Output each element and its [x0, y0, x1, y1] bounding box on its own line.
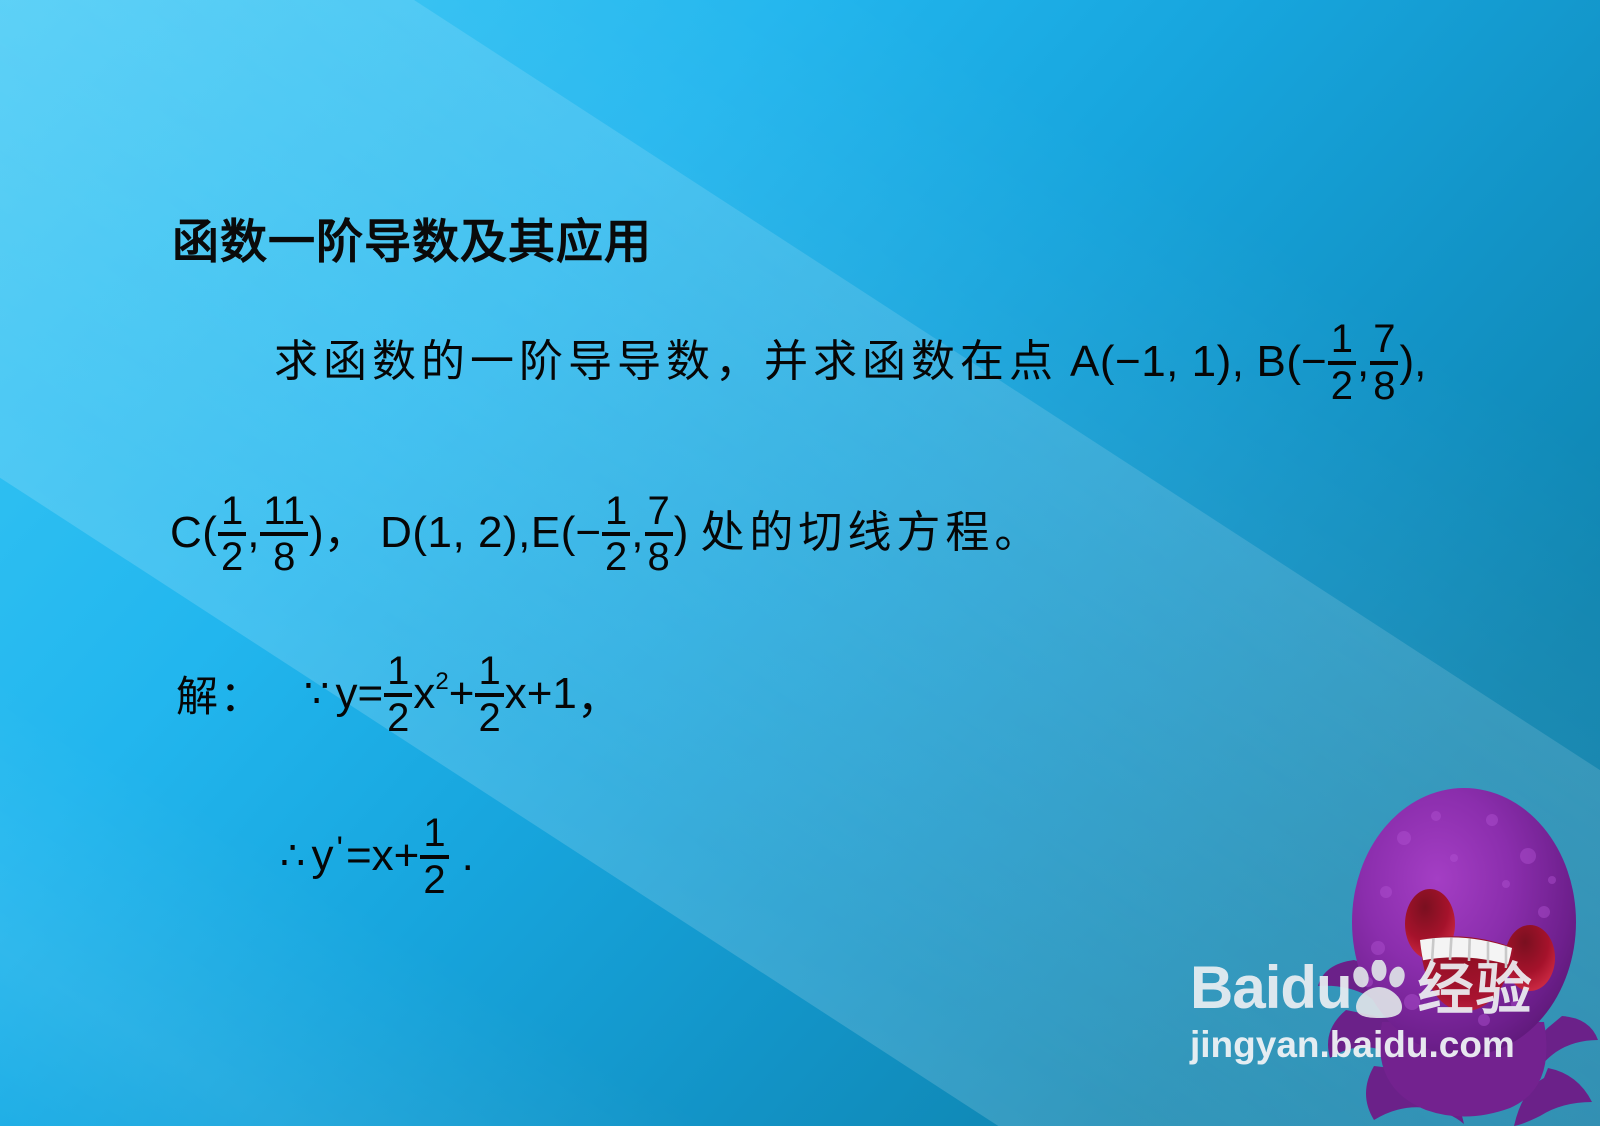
fraction-numerator: 7 [1370, 319, 1398, 360]
equation1-fraction-1: 1 2 [384, 651, 412, 739]
equation2-rhs: =x+ [346, 831, 419, 881]
derivative-prime-mark: ' [333, 830, 346, 869]
point-c-separator: , [247, 511, 259, 555]
slide-title: 函数一阶导数及其应用 [172, 203, 652, 272]
point-e-separator: , [631, 511, 643, 555]
point-c-close-paren: ) [309, 511, 324, 555]
point-e-y-fraction: 7 8 [645, 491, 673, 579]
fraction-numerator: 1 [218, 491, 246, 532]
purple-octopus-mascot-icon [1316, 772, 1600, 1126]
point-b-open-paren: (− [1286, 340, 1326, 384]
watermark-brand-row: Baidu 经验 [1190, 952, 1590, 1018]
point-d-label: D [380, 511, 412, 555]
fraction-numerator: 1 [602, 491, 630, 532]
problem-line-1: 求函数的一阶导导数，并求函数在点 A (−1, 1) , B (− 1 2 , … [170, 318, 1450, 406]
fraction-numerator: 1 [420, 813, 448, 854]
comma-after-a: , [1232, 340, 1245, 384]
problem-line-2: C ( 1 2 , 11 8 ) ， D (1, 2) , E (− 1 [170, 490, 1450, 578]
equation2-fraction: 1 2 [420, 813, 448, 901]
fraction-numerator: 1 [1328, 319, 1356, 360]
fraction-denominator: 2 [218, 537, 246, 578]
equation1-exponent: 2 [435, 668, 448, 696]
solution-label: 解： [176, 663, 264, 724]
therefore-symbol: ∴ [274, 833, 311, 879]
fraction-denominator: 2 [420, 860, 448, 901]
solution-line-2: ∴ y ' =x+ 1 2 . [274, 812, 474, 900]
baidu-brand-chinese: 经验 [1418, 962, 1534, 1018]
point-a-value: (−1, 1) [1100, 340, 1232, 384]
paw-print-icon [1346, 960, 1412, 1022]
equation1-tail: +1 [527, 669, 577, 719]
fraction-denominator: 2 [1328, 366, 1356, 407]
problem-line1-chinese: 求函数的一阶导导数，并求函数在点 [274, 340, 1058, 384]
problem-statement: 求函数的一阶导导数，并求函数在点 A (−1, 1) , B (− 1 2 , … [170, 318, 1450, 577]
solution-line-1: 解： ∵ y= 1 2 x 2 + 1 2 x +1 ， [176, 650, 621, 738]
point-c-y-fraction: 11 8 [260, 491, 308, 579]
point-a-label: A [1070, 340, 1100, 384]
problem-line2-chinese-tail: 处的切线方程。 [700, 511, 1043, 555]
point-e-open-paren: (− [561, 511, 601, 555]
presentation-slide: 函数一阶导数及其应用 求函数的一阶导导数，并求函数在点 A (−1, 1) , … [0, 0, 1600, 1126]
baidu-watermark: Baidu 经验 jingyan.baidu.com [1190, 952, 1590, 1072]
equation1-comma: ， [577, 662, 621, 726]
fraction-numerator: 11 [260, 491, 308, 532]
fraction-numerator: 1 [475, 651, 503, 692]
point-b-y-fraction: 7 8 [1370, 319, 1398, 407]
baidu-brand-text: Baidu [1190, 958, 1352, 1018]
equation1-fraction-2: 1 2 [475, 651, 503, 739]
point-e-x-fraction: 1 2 [602, 491, 630, 579]
line1-trailing-comma: , [1414, 340, 1427, 384]
point-e-label: E [531, 511, 561, 555]
point-c-label: C [170, 511, 202, 555]
comma-after-d: , [518, 511, 531, 555]
point-b-separator: , [1357, 340, 1369, 384]
fraction-denominator: 2 [475, 698, 503, 739]
because-symbol: ∵ [298, 671, 335, 717]
fraction-denominator: 2 [602, 537, 630, 578]
equation2-period: . [462, 831, 474, 881]
equation2-lhs: y [311, 831, 333, 881]
fraction-denominator: 8 [270, 537, 298, 578]
equation1-variable-2: x [505, 669, 527, 719]
point-b-close-paren: ) [1399, 340, 1414, 384]
point-c-x-fraction: 1 2 [218, 491, 246, 579]
comma-after-c: ， [324, 511, 369, 555]
point-b-label: B [1256, 340, 1286, 384]
equation1-plus: + [449, 669, 475, 719]
equation1-variable-1: x [413, 669, 435, 719]
point-d-value: (1, 2) [412, 511, 518, 555]
fraction-numerator: 1 [384, 651, 412, 692]
fraction-denominator: 8 [645, 537, 673, 578]
point-c-open-paren: ( [202, 511, 217, 555]
fraction-denominator: 2 [384, 698, 412, 739]
baidu-watermark-url: jingyan.baidu.com [1190, 1024, 1590, 1066]
equation1-lhs: y= [335, 669, 383, 719]
point-b-x-fraction: 1 2 [1328, 319, 1356, 407]
fraction-denominator: 8 [1370, 366, 1398, 407]
point-e-close-paren: ) [674, 511, 689, 555]
fraction-numerator: 7 [645, 491, 673, 532]
